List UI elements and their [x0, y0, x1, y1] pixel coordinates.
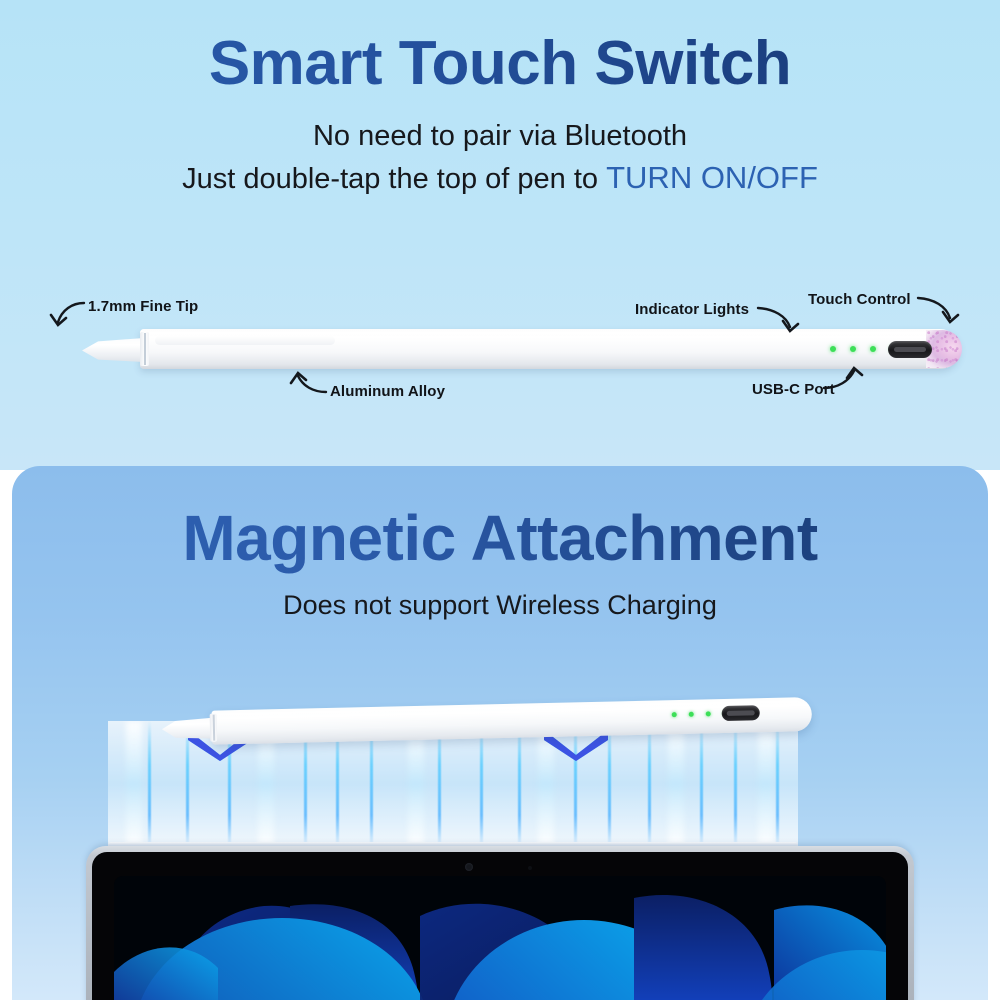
- stylus-flat-edge: [155, 336, 335, 345]
- callout-fine-tip: 1.7mm Fine Tip: [88, 298, 198, 315]
- tablet-device: [86, 846, 914, 1000]
- usb-c-port-icon: [888, 341, 932, 358]
- magnetic-subtitle: Does not support Wireless Charging: [12, 590, 988, 621]
- page-title: Smart Touch Switch: [0, 28, 1000, 99]
- stylus-seam-line: [144, 333, 146, 365]
- callout-usb-c-port: USB-C Port: [752, 381, 835, 398]
- magnetic-title: Magnetic Attachment: [12, 501, 988, 575]
- tablet-bezel: [92, 852, 908, 1000]
- subtitle-line-2: Just double-tap the top of pen to TURN O…: [0, 160, 1000, 196]
- stylus-tip-cone: [162, 718, 214, 740]
- usb-c-port-icon: [722, 705, 760, 721]
- turn-on-off-highlight: TURN ON/OFF: [606, 160, 818, 195]
- subtitle-line-1: No need to pair via Bluetooth: [0, 120, 1000, 153]
- stylus-illustration-top: [40, 322, 960, 382]
- callout-touch-control: Touch Control: [808, 291, 911, 308]
- callout-aluminum-alloy: Aluminum Alloy: [330, 383, 445, 400]
- subtitle-line-2-prefix: Just double-tap the top of pen to: [182, 163, 606, 195]
- tablet-screen: [114, 876, 886, 1000]
- stylus-tip-cone: [82, 338, 144, 362]
- magnetic-attachment-section: Magnetic Attachment Does not support Wir…: [12, 466, 988, 1000]
- product-marketing-image: Smart Touch Switch No need to pair via B…: [0, 0, 1000, 1000]
- callout-indicator-lights: Indicator Lights: [635, 301, 749, 318]
- wallpaper-graphic: [114, 876, 886, 1000]
- front-camera-icon: [465, 863, 473, 871]
- ambient-sensor-icon: [528, 866, 532, 870]
- smart-touch-switch-section: Smart Touch Switch No need to pair via B…: [0, 0, 1000, 470]
